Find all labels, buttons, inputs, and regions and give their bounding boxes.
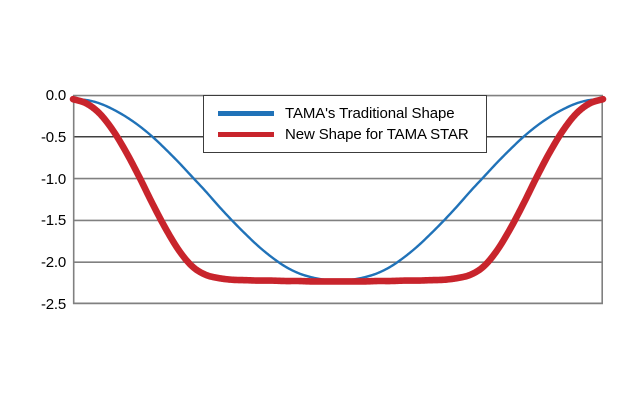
legend-entry-tama-traditional: TAMA's Traditional Shape <box>204 103 486 124</box>
legend-swatch-red-line-icon <box>218 132 274 137</box>
y-tick-label: -0.5 <box>26 130 66 145</box>
y-tick-label: -2.0 <box>26 255 66 270</box>
legend-label: TAMA's Traditional Shape <box>285 106 454 122</box>
y-tick-label: -1.5 <box>26 213 66 228</box>
y-axis-tick-labels: 0.0 -0.5 -1.0 -1.5 -2.0 -2.5 <box>24 95 66 304</box>
y-tick-label: 0.0 <box>26 88 66 103</box>
chart-figure: 0.0 -0.5 -1.0 -1.5 -2.0 -2.5 <box>0 0 640 400</box>
y-tick-label: -1.0 <box>26 172 66 187</box>
y-tick-label: -2.5 <box>26 297 66 312</box>
legend-label: New Shape for TAMA STAR <box>285 127 469 143</box>
legend-entry-tama-star: New Shape for TAMA STAR <box>204 124 486 145</box>
chart-legend: TAMA's Traditional Shape New Shape for T… <box>203 95 487 153</box>
legend-swatch-blue-line-icon <box>218 111 274 116</box>
